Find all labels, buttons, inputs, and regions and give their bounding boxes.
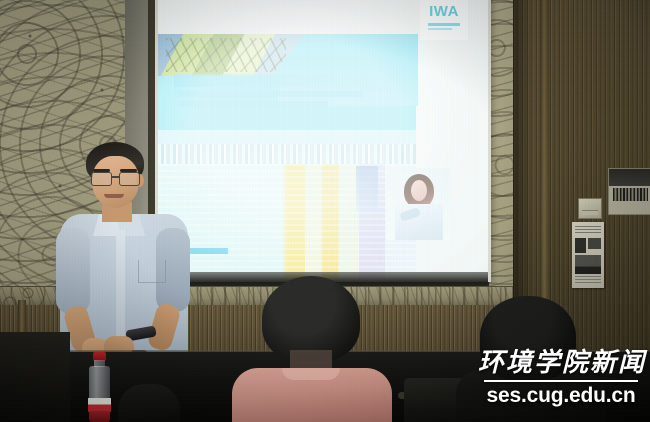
- projector-bloom: [158, 0, 488, 278]
- poster-photo: [588, 238, 601, 249]
- poster-text-lines: [575, 276, 601, 283]
- glasses-bridge: [111, 176, 119, 178]
- bottle-base: [89, 411, 110, 422]
- glasses-lens-right: [119, 172, 140, 186]
- audience-member-far-left: [118, 384, 180, 422]
- presenter-shirt-pocket: [138, 260, 166, 283]
- patterned-wallpaper-right: [489, 0, 515, 300]
- ac-unit-top-cover: [609, 169, 650, 186]
- bottle-label: [88, 398, 111, 412]
- water-bottle[interactable]: [86, 352, 112, 422]
- poster-photo: [575, 255, 601, 274]
- audience-head: [480, 296, 576, 380]
- wall-ac-unit: [608, 168, 650, 215]
- ac-unit-grille: [613, 188, 648, 201]
- presenter-mouth: [104, 194, 124, 198]
- presenter-sleeve-left: [56, 228, 90, 314]
- wall-switch-plate[interactable]: [578, 198, 602, 219]
- table-left-block: [0, 332, 70, 422]
- glasses-lens-left: [91, 172, 112, 186]
- audience-member-right: [470, 296, 600, 422]
- photograph: IWA: [0, 0, 650, 422]
- presenter-glasses: [90, 172, 142, 184]
- audience-member-center: [236, 276, 386, 422]
- wall-poster: [572, 222, 604, 288]
- poster-photo: [575, 238, 586, 253]
- audience-collar: [282, 368, 340, 380]
- poster-text-lines: [575, 226, 601, 234]
- projection-screen: IWA: [158, 0, 488, 278]
- bottle-body: [89, 366, 110, 402]
